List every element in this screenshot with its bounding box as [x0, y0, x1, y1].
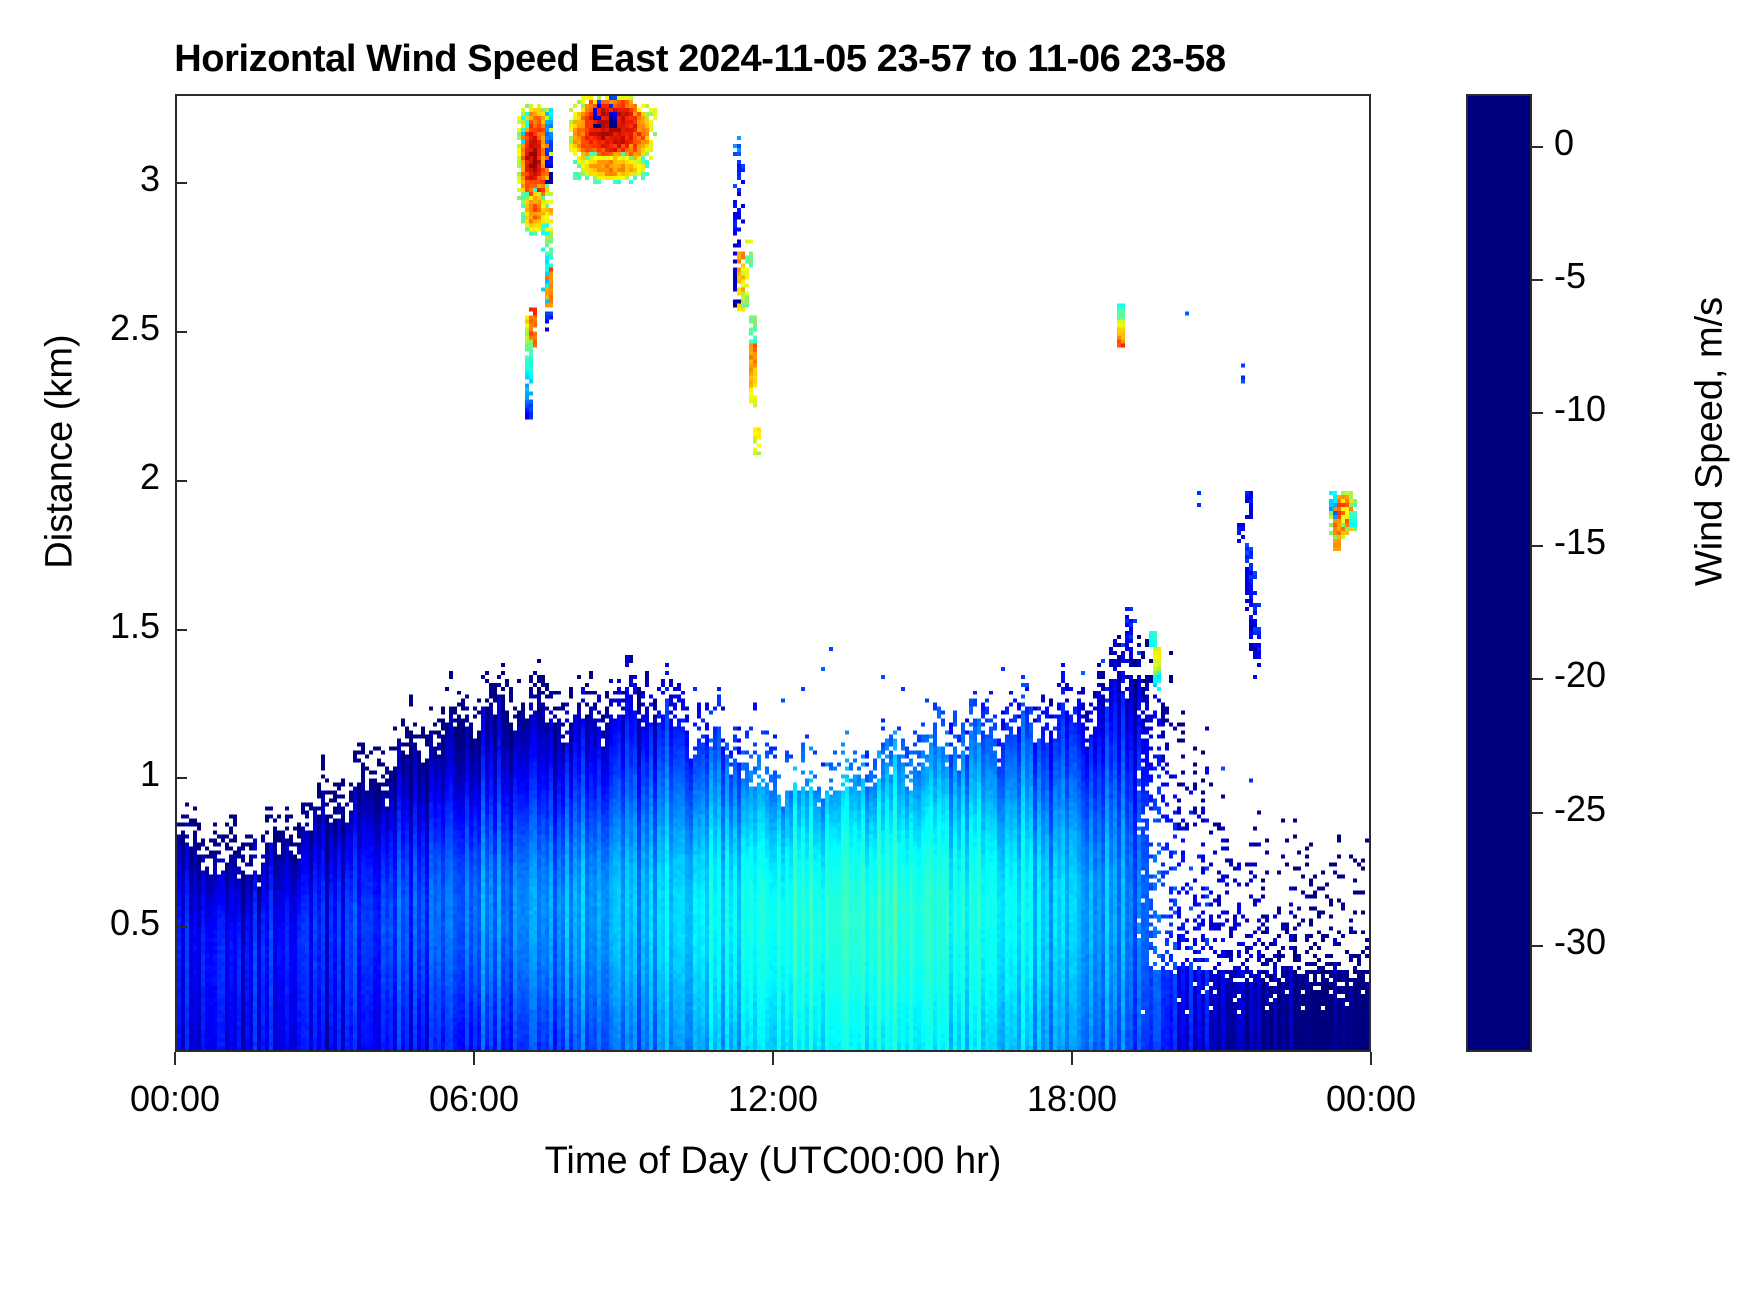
- heatmap-axes: [175, 94, 1371, 1052]
- x-tick-label: 00:00: [1271, 1078, 1471, 1120]
- colorbar-tick-label: -10: [1554, 388, 1606, 430]
- y-tick-mark: [175, 480, 187, 482]
- x-tick-label: 18:00: [972, 1078, 1172, 1120]
- y-tick-mark: [175, 926, 187, 928]
- y-tick-label: 0.5: [110, 902, 160, 944]
- colorbar-tick-label: -20: [1554, 654, 1606, 696]
- y-tick-mark: [175, 777, 187, 779]
- colorbar: 0-5-10-15-20-25-30: [1466, 94, 1532, 1052]
- y-tick-label: 2.5: [110, 307, 160, 349]
- x-tick-mark: [174, 1052, 176, 1065]
- x-tick-mark: [1071, 1052, 1073, 1065]
- y-tick-mark: [175, 182, 187, 184]
- x-tick-label: 00:00: [75, 1078, 275, 1120]
- colorbar-tick-label: -15: [1554, 521, 1606, 563]
- x-tick-label: 12:00: [673, 1078, 873, 1120]
- colorbar-tick-mark: [1532, 146, 1543, 148]
- colorbar-tick-mark: [1532, 812, 1543, 814]
- colorbar-gradient: [1466, 94, 1532, 1052]
- colorbar-tick-label: -25: [1554, 788, 1606, 830]
- colorbar-tick-label: -30: [1554, 921, 1606, 963]
- colorbar-tick-label: 0: [1554, 122, 1574, 164]
- x-tick-mark: [473, 1052, 475, 1065]
- x-tick-mark: [772, 1052, 774, 1065]
- x-tick-label: 06:00: [374, 1078, 574, 1120]
- colorbar-tick-mark: [1532, 545, 1543, 547]
- colorbar-tick-mark: [1532, 678, 1543, 680]
- colorbar-tick-mark: [1532, 412, 1543, 414]
- colorbar-label: Wind Speed, m/s: [1689, 202, 1732, 682]
- y-tick-label: 2: [140, 456, 160, 498]
- y-axis-label: Distance (km): [39, 212, 82, 692]
- colorbar-tick-mark: [1532, 945, 1543, 947]
- y-tick-mark: [175, 331, 187, 333]
- y-tick-mark: [175, 629, 187, 631]
- heatmap-canvas: [177, 96, 1369, 1050]
- chart-title: Horizontal Wind Speed East 2024-11-05 23…: [0, 38, 1400, 81]
- figure-root: Horizontal Wind Speed East 2024-11-05 23…: [0, 0, 1750, 1313]
- x-axis-label: Time of Day (UTC00:00 hr): [175, 1140, 1371, 1183]
- y-tick-label: 3: [140, 158, 160, 200]
- y-tick-label: 1: [140, 753, 160, 795]
- colorbar-tick-mark: [1532, 279, 1543, 281]
- x-tick-mark: [1370, 1052, 1372, 1065]
- y-tick-label: 1.5: [110, 605, 160, 647]
- colorbar-tick-label: -5: [1554, 255, 1586, 297]
